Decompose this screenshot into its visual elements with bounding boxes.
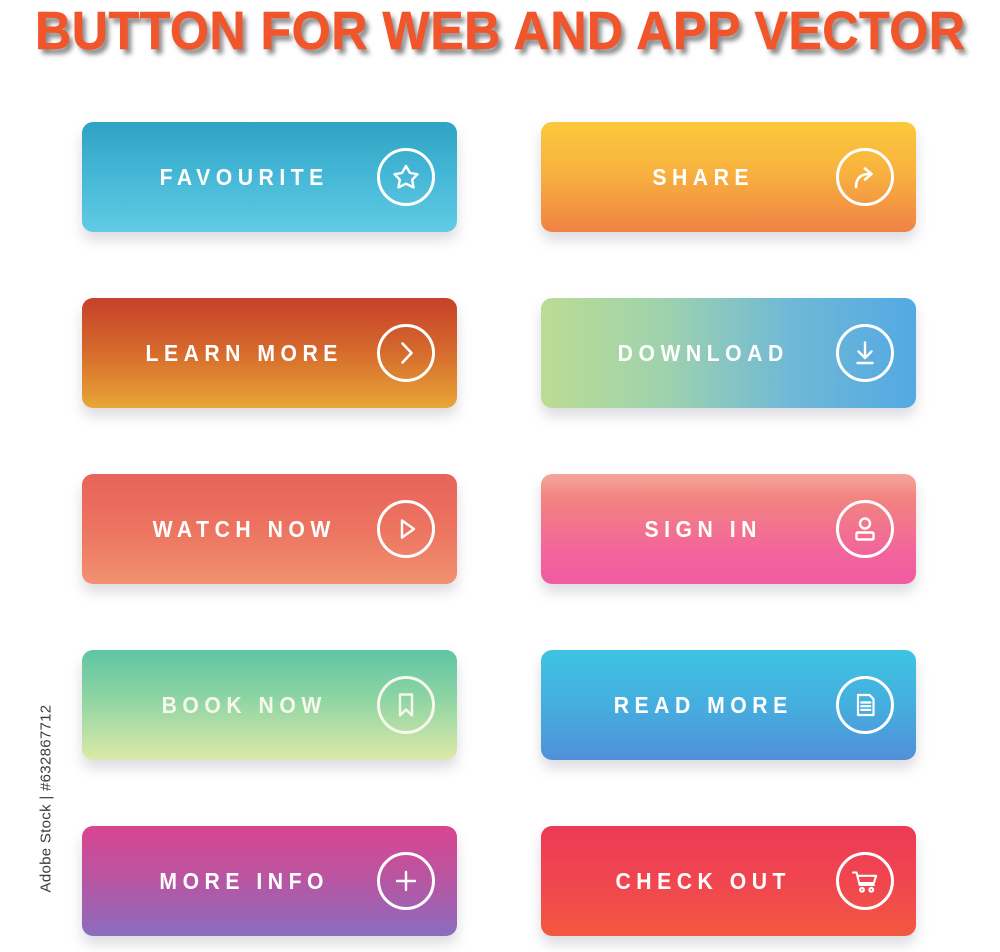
button-label: READ MORE <box>553 692 824 719</box>
favourite-button[interactable]: FAVOURITE <box>82 122 457 232</box>
button-grid: FAVOURITE SHARE LEARN MORE DOWNLOAD <box>82 122 916 936</box>
button-label: MORE INFO <box>94 868 365 895</box>
read-more-button[interactable]: READ MORE <box>541 650 916 760</box>
document-icon <box>836 676 894 734</box>
page-title-bar: BUTTON FOR WEB AND APP VECTOR <box>0 0 1000 62</box>
more-info-button[interactable]: MORE INFO <box>82 826 457 936</box>
button-label: WATCH NOW <box>94 516 365 543</box>
button-label: LEARN MORE <box>94 340 365 367</box>
button-label: CHECK OUT <box>553 868 824 895</box>
check-out-button[interactable]: CHECK OUT <box>541 826 916 936</box>
plus-icon <box>377 852 435 910</box>
shopping-cart-icon <box>836 852 894 910</box>
share-arrow-icon <box>836 148 894 206</box>
book-now-button[interactable]: BOOK NOW <box>82 650 457 760</box>
play-icon <box>377 500 435 558</box>
bookmark-icon <box>377 676 435 734</box>
download-button[interactable]: DOWNLOAD <box>541 298 916 408</box>
page-title: BUTTON FOR WEB AND APP VECTOR <box>35 4 966 58</box>
button-label: SHARE <box>553 164 824 191</box>
download-icon <box>836 324 894 382</box>
user-icon <box>836 500 894 558</box>
button-label: SIGN IN <box>553 516 824 543</box>
button-label: BOOK NOW <box>94 692 365 719</box>
star-icon <box>377 148 435 206</box>
sign-in-button[interactable]: SIGN IN <box>541 474 916 584</box>
chevron-right-icon <box>377 324 435 382</box>
watch-now-button[interactable]: WATCH NOW <box>82 474 457 584</box>
share-button[interactable]: SHARE <box>541 122 916 232</box>
button-label: DOWNLOAD <box>553 340 824 367</box>
stock-watermark: Adobe Stock | #632867712 <box>38 659 55 939</box>
button-label: FAVOURITE <box>94 164 365 191</box>
learn-more-button[interactable]: LEARN MORE <box>82 298 457 408</box>
